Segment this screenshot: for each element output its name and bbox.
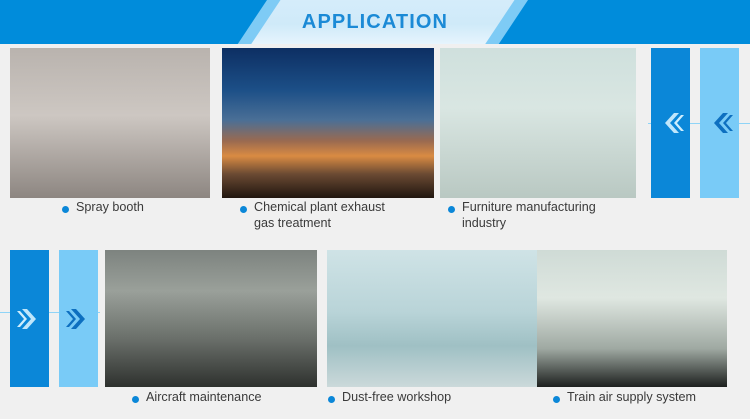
caption-label: Furniture manufacturing industry xyxy=(462,200,596,231)
caption-label: Aircraft maintenance xyxy=(146,390,262,406)
caption-furniture-industry: Furniture manufacturing industry xyxy=(448,200,638,231)
aircraft-maintenance-photo: Lufthansa xyxy=(105,250,317,387)
application-row-2-captions: Aircraft maintenance Dust-free workshop … xyxy=(0,390,750,418)
section-banner: APPLICATION xyxy=(0,0,750,44)
bullet-icon xyxy=(328,396,335,403)
caption-label: Chemical plant exhaust gas treatment xyxy=(254,200,385,231)
arrow-bar-light xyxy=(59,250,98,387)
caption-dust-free-workshop: Dust-free workshop xyxy=(328,390,508,406)
dust-free-workshop-photo xyxy=(327,250,539,387)
banner-underline xyxy=(0,44,750,47)
caption-label: Dust-free workshop xyxy=(342,390,451,406)
application-row-1 xyxy=(0,48,750,198)
chevron-right-icon xyxy=(16,307,44,331)
arrow-bar-dark xyxy=(651,48,690,198)
chevron-left-icon xyxy=(706,111,734,135)
bullet-icon xyxy=(240,206,247,213)
caption-chemical-plant: Chemical plant exhaust gas treatment xyxy=(240,200,430,231)
bullet-icon xyxy=(448,206,455,213)
spray-booth-photo xyxy=(10,48,210,198)
chevron-right-icon xyxy=(65,307,93,331)
train-air-supply-photo: CRH 2 2 xyxy=(537,250,727,387)
chemical-plant-photo xyxy=(222,48,434,198)
bullet-icon xyxy=(132,396,139,403)
caption-label: Train air supply system xyxy=(567,390,696,406)
application-section: APPLICATION xyxy=(0,0,750,419)
caption-label: Spray booth xyxy=(76,200,144,216)
chevron-left-icon xyxy=(657,111,685,135)
bullet-icon xyxy=(62,206,69,213)
arrow-bar-light xyxy=(700,48,739,198)
caption-aircraft-maintenance: Aircraft maintenance xyxy=(132,390,302,406)
bullet-icon xyxy=(553,396,560,403)
caption-train-air-supply: Train air supply system xyxy=(553,390,743,406)
application-row-1-captions: Spray booth Chemical plant exhaust gas t… xyxy=(0,200,750,246)
furniture-industry-photo xyxy=(440,48,636,198)
caption-spray-booth: Spray booth xyxy=(62,200,212,216)
application-row-2: Lufthansa xyxy=(0,250,750,387)
page-title: APPLICATION xyxy=(0,0,750,44)
arrow-bar-dark xyxy=(10,250,49,387)
